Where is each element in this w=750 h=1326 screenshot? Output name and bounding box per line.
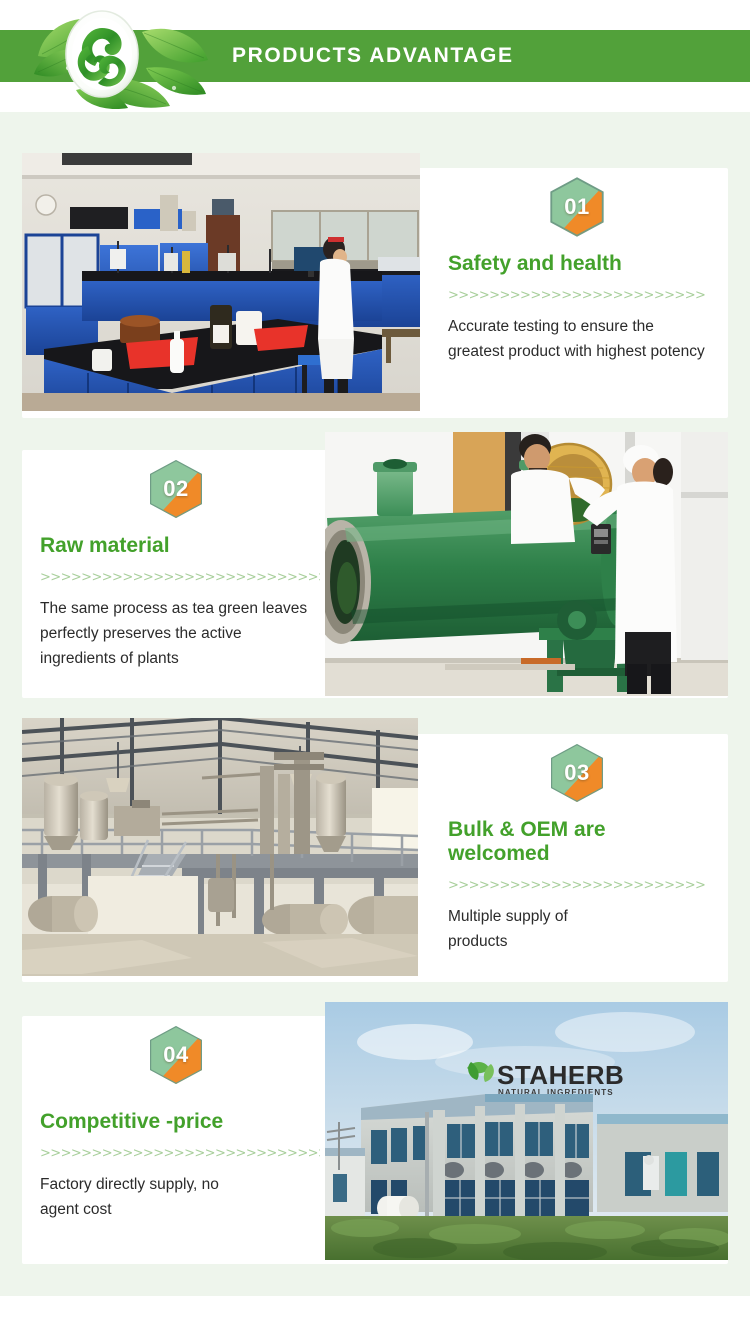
card-content-1: 01 Safety and health >>>>>>>>>>>>>>>>>>>… bbox=[448, 176, 706, 364]
extraction-workshop-photo bbox=[22, 718, 418, 976]
hex-number-4: 04 bbox=[148, 1024, 204, 1086]
hexagon-badge-icon-4: 04 bbox=[148, 1024, 204, 1086]
hexagon-badge-icon-1: 01 bbox=[549, 176, 605, 238]
card-text-4: Factory directly supply, no agent cost bbox=[40, 1172, 240, 1222]
chevron-divider-1: >>>>>>>>>>>>>>>>>>>>>>>>>>>>> bbox=[448, 288, 706, 303]
hex-number-1: 01 bbox=[549, 176, 605, 238]
page-header: PRODUCTS ADVANTAGE bbox=[0, 0, 750, 112]
page-title: PRODUCTS ADVANTAGE bbox=[232, 30, 514, 82]
hexagon-badge-icon-3: 03 bbox=[549, 742, 605, 804]
card-title-3: Bulk & OEM are welcomed bbox=[448, 818, 663, 866]
card-title-2: Raw material bbox=[40, 534, 320, 558]
hexagon-badge-icon-2: 02 bbox=[148, 458, 204, 520]
page-background: PRODUCTS ADVANTAGE bbox=[0, 0, 750, 1296]
card-content-3: 03 Bulk & OEM are welcomed >>>>>>>>>>>>>… bbox=[448, 742, 706, 955]
hex-badge-wrap-1: 01 bbox=[448, 176, 706, 238]
chevron-divider-3: >>>>>>>>>>>>>>>>>>>>>>>>>>>>> bbox=[448, 878, 706, 893]
hex-number-3: 03 bbox=[549, 742, 605, 804]
tea-processing-drum-photo bbox=[325, 432, 728, 696]
factory-building-photo: STAHERB NATURAL INGREDIENTS bbox=[325, 1002, 728, 1260]
card-content-2: 02 Raw material >>>>>>>>>>>>>>>>>>>>>>>>… bbox=[40, 458, 320, 671]
card-content-4: 04 Competitive -price >>>>>>>>>>>>>>>>>>… bbox=[40, 1024, 320, 1222]
chevron-divider-4: >>>>>>>>>>>>>>>>>>>>>>>>>>>>> bbox=[40, 1146, 320, 1161]
svg-text:STAHERB: STAHERB bbox=[497, 1060, 624, 1090]
card-title-4: Competitive -price bbox=[40, 1110, 320, 1134]
laboratory-photo bbox=[22, 153, 420, 411]
card-text-3: Multiple supply of products bbox=[448, 904, 623, 954]
hex-badge-wrap-4: 04 bbox=[40, 1024, 320, 1086]
staherb-leaf-logo bbox=[24, 2, 224, 110]
hex-number-2: 02 bbox=[148, 458, 204, 520]
card-text-1: Accurate testing to ensure the greatest … bbox=[448, 314, 706, 364]
card-title-1: Safety and health bbox=[448, 252, 706, 276]
chevron-divider-2: >>>>>>>>>>>>>>>>>>>>>>>>>>>>> bbox=[40, 570, 320, 585]
card-text-2: The same process as tea green leaves per… bbox=[40, 596, 320, 671]
hex-badge-wrap-3: 03 bbox=[448, 742, 706, 804]
hex-badge-wrap-2: 02 bbox=[40, 458, 320, 520]
